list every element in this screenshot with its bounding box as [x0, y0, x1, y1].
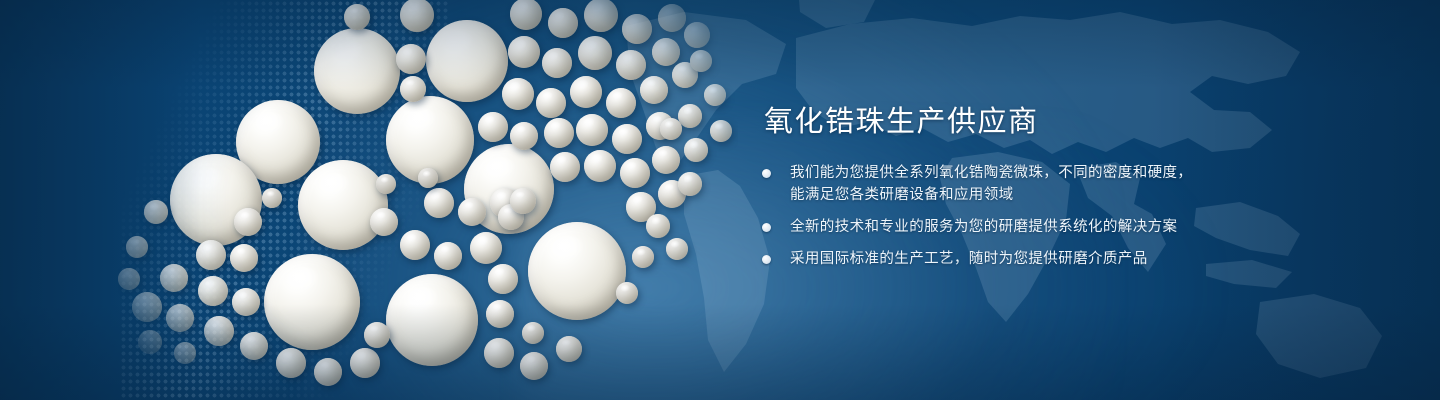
feature-bullet-list: 我们能为您提供全系列氧化锆陶瓷微珠，不同的密度和硬度， 能满足您各类研磨设备和应…	[762, 162, 1282, 270]
feature-bullet-item: 全新的技术和专业的服务为您的研磨提供系统化的解决方案	[762, 216, 1282, 238]
bullet-line: 采用国际标准的生产工艺，随时为您提供研磨介质产品	[790, 248, 1282, 270]
bullet-line: 我们能为您提供全系列氧化锆陶瓷微珠，不同的密度和硬度，	[790, 162, 1282, 184]
bullet-dot-icon	[762, 255, 771, 264]
hero-banner: 氧化锆珠生产供应商 我们能为您提供全系列氧化锆陶瓷微珠，不同的密度和硬度， 能满…	[0, 0, 1440, 400]
banner-copy: 氧化锆珠生产供应商 我们能为您提供全系列氧化锆陶瓷微珠，不同的密度和硬度， 能满…	[762, 104, 1282, 270]
feature-bullet-item: 采用国际标准的生产工艺，随时为您提供研磨介质产品	[762, 248, 1282, 270]
bullet-line: 全新的技术和专业的服务为您的研磨提供系统化的解决方案	[790, 216, 1282, 238]
banner-headline: 氧化锆珠生产供应商	[764, 104, 1282, 140]
bullet-line: 能满足您各类研磨设备和应用领域	[790, 184, 1282, 206]
feature-bullet-item: 我们能为您提供全系列氧化锆陶瓷微珠，不同的密度和硬度， 能满足您各类研磨设备和应…	[762, 162, 1282, 206]
bullet-dot-icon	[762, 169, 771, 178]
bullet-dot-icon	[762, 223, 771, 232]
